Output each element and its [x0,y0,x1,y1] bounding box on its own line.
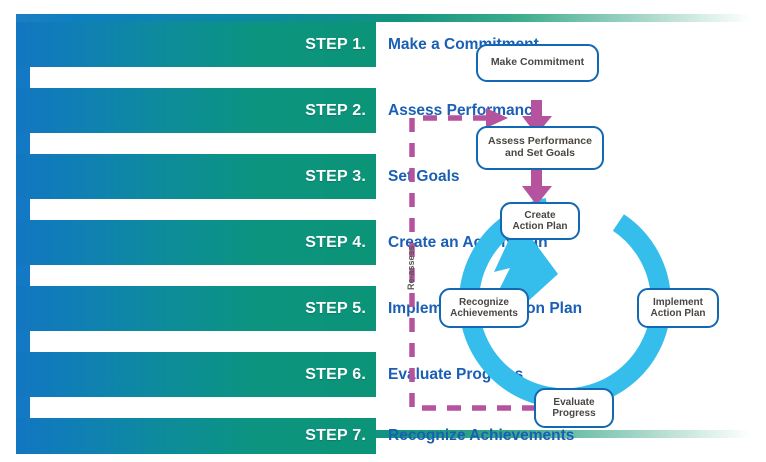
flow-node-label-line2: Achievements [450,308,518,319]
flow-node-evaluate-progress[interactable]: Evaluate Progress [534,388,614,428]
flow-node-create-action-plan[interactable]: Create Action Plan [500,202,580,240]
flow-node-label-line2: Progress [552,408,595,419]
step-row-7[interactable]: STEP 7. [16,418,376,454]
flow-node-label-line2: Action Plan [512,221,567,232]
step-number-5: STEP 5. [305,300,366,318]
flow-node-recognize-achievements[interactable]: Recognize Achievements [439,288,529,328]
step-row-2[interactable]: STEP 2. [16,88,376,133]
step-number-1: STEP 1. [305,36,366,54]
step-number-3: STEP 3. [305,168,366,186]
step-number-6: STEP 6. [305,366,366,384]
step-number-2: STEP 2. [305,102,366,120]
flow-node-make-commitment[interactable]: Make Commitment [476,44,599,82]
step-number-7: STEP 7. [305,427,366,445]
arrow-assess-to-create [522,170,552,205]
reassess-label: Re-assess [406,245,416,290]
flow-node-label-line1: Evaluate [553,397,594,408]
flow-node-label: Make Commitment [491,57,584,69]
flow-node-label-line1: Create [524,210,555,221]
flow-node-label-line1: Recognize [459,297,509,308]
step-row-6[interactable]: STEP 6. [16,352,376,397]
flow-node-label-line1: Implement [653,297,703,308]
step-row-5[interactable]: STEP 5. [16,286,376,331]
infographic-canvas: STEP 1. Make a Commitment STEP 2. Assess… [0,0,766,462]
flow-node-label-line2: and Set Goals [505,148,575,160]
flow-node-assess-set-goals[interactable]: Assess Performance and Set Goals [476,126,604,170]
flow-node-implement-action-plan[interactable]: Implement Action Plan [637,288,719,328]
step-row-3[interactable]: STEP 3. [16,154,376,199]
step-number-4: STEP 4. [305,234,366,252]
flow-node-label-line2: Action Plan [650,308,705,319]
top-gradient-rule [16,14,750,22]
step-row-4[interactable]: STEP 4. [16,220,376,265]
step-row-1[interactable]: STEP 1. [16,22,376,67]
steps-list: STEP 1. Make a Commitment STEP 2. Assess… [16,22,376,432]
improvement-cycle-diagram: Re-assess Make Commitment Assess Perform… [386,22,750,432]
